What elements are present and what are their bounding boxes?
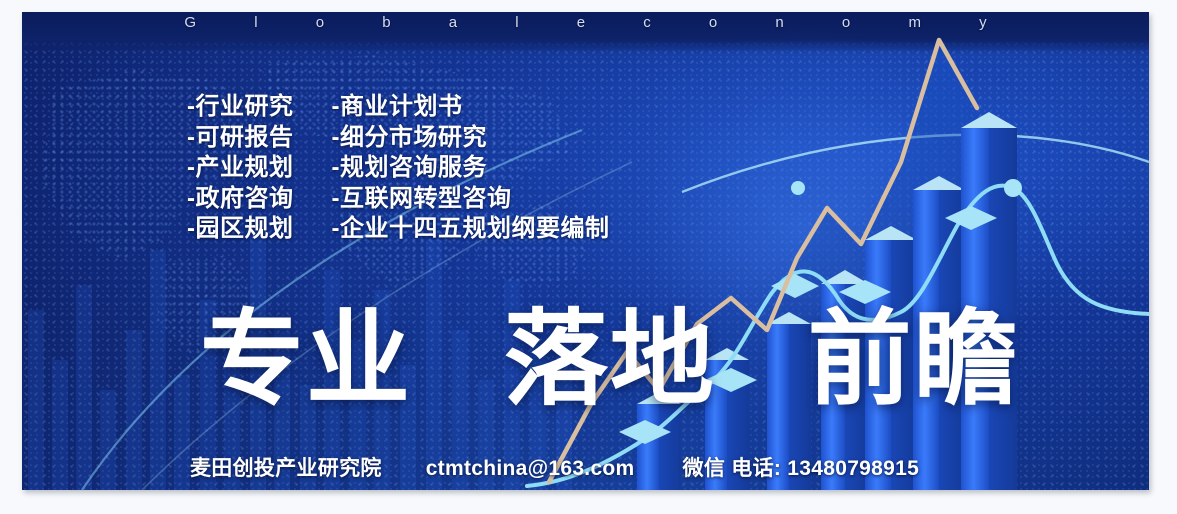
dot-matrix-texture bbox=[22, 12, 1149, 490]
service-item[interactable]: -互联网转型咨询 bbox=[332, 184, 610, 215]
service-item[interactable]: -行业研究 bbox=[187, 92, 294, 123]
chart-area-fill bbox=[549, 40, 977, 490]
company-name: 麦田创投产业研究院 bbox=[190, 452, 382, 482]
contact-phone[interactable]: 微信 电话: 13480798915 bbox=[683, 452, 920, 482]
service-item[interactable]: -规划咨询服务 bbox=[332, 153, 610, 184]
service-item[interactable]: -可研报告 bbox=[187, 123, 294, 154]
chart-glow bbox=[499, 12, 1119, 490]
headline-word-1: 专业 bbox=[200, 302, 412, 418]
email-address[interactable]: ctmtchina@163.com bbox=[426, 457, 635, 481]
dot-matrix-texture-fine bbox=[22, 12, 1149, 490]
service-item[interactable]: -企业十四五规划纲要编制 bbox=[332, 214, 610, 245]
service-item[interactable]: -商业计划书 bbox=[332, 92, 610, 123]
services-column-left: -行业研究 -可研报告 -产业规划 -政府咨询 -园区规划 bbox=[187, 92, 294, 245]
footer-contact-bar: 麦田创投产业研究院 ctmtchina@163.com 微信 电话: 13480… bbox=[190, 452, 919, 482]
service-item[interactable]: -细分市场研究 bbox=[332, 123, 610, 154]
marketing-banner: G l o b a l e c o n o m y -行业研究 -可研报告 -产… bbox=[22, 12, 1149, 490]
banner-root: G l o b a l e c o n o m y -行业研究 -可研报告 -产… bbox=[0, 0, 1177, 514]
headline: 专业 落地 前瞻 bbox=[200, 308, 1020, 412]
bar-7 bbox=[961, 112, 1017, 490]
growth-chart-graphic bbox=[509, 12, 1149, 490]
decorative-arcs bbox=[22, 12, 1149, 490]
service-item[interactable]: -园区规划 bbox=[187, 214, 294, 245]
eyebrow-global-economy: G l o b a l e c o n o m y bbox=[22, 14, 1149, 31]
service-item[interactable]: -政府咨询 bbox=[187, 184, 294, 215]
service-item[interactable]: -产业规划 bbox=[187, 153, 294, 184]
headline-word-3: 前瞻 bbox=[808, 302, 1020, 418]
headline-word-2: 落地 bbox=[504, 302, 716, 418]
services-column-right: -商业计划书 -细分市场研究 -规划咨询服务 -互联网转型咨询 -企业十四五规划… bbox=[332, 92, 610, 245]
services-lists: -行业研究 -可研报告 -产业规划 -政府咨询 -园区规划 -商业计划书 -细分… bbox=[187, 92, 610, 245]
chart-bars bbox=[637, 112, 1017, 490]
